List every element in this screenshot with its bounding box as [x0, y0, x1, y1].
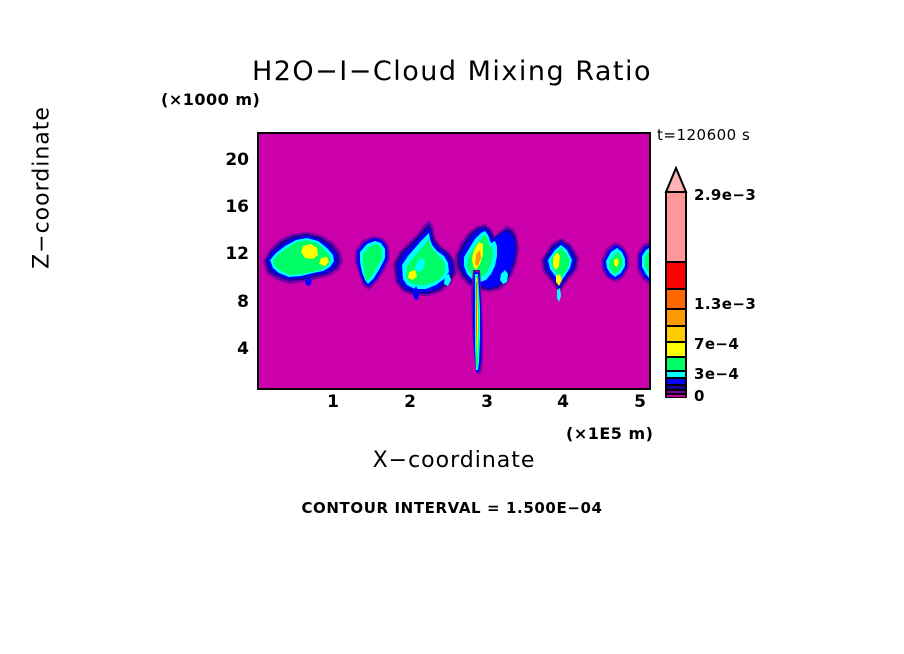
colorbar-arrow-icon	[666, 168, 686, 192]
y-axis-title: Z−coordinate	[30, 88, 55, 288]
colorbar-segment-5	[666, 357, 686, 371]
colorbar-label-1-3e-3: 1.3e−3	[694, 295, 756, 313]
page-title: H2O−I−Cloud Mixing Ratio	[0, 56, 904, 87]
x-tick-3: 3	[467, 392, 507, 412]
y-tick-20: 20	[209, 150, 249, 170]
x-axis-title: X−coordinate	[257, 448, 651, 473]
figure-canvas: H2O−I−Cloud Mixing Ratio (×1000 m) t=120…	[0, 0, 904, 654]
x-tick-1: 1	[313, 392, 353, 412]
y-axis-ticks: 4 8 12 16 20	[203, 132, 249, 390]
contour-plot-area[interactable]	[257, 132, 651, 390]
x-axis-unit-label: (×1E5 m)	[566, 424, 653, 443]
contour-interval-caption: CONTOUR INTERVAL = 1.500E−04	[0, 499, 904, 517]
colorbar-label-3e-4: 3e−4	[694, 365, 739, 383]
y-tick-12: 12	[209, 244, 249, 264]
colorbar-label-max: 2.9e−3	[694, 186, 756, 204]
colorbar-segment-8	[666, 309, 686, 326]
x-axis-ticks: 1 2 3 4 5	[257, 392, 651, 420]
colorbar-segment-6	[666, 342, 686, 357]
z-axis-unit-label: (×1000 m)	[161, 90, 260, 109]
colorbar-labels: 2.9e−3 1.3e−3 7e−4 3e−4 0	[694, 166, 814, 398]
colorbar-segment-11	[666, 192, 686, 262]
y-tick-8: 8	[209, 292, 249, 312]
y-tick-16: 16	[209, 197, 249, 217]
x-tick-4: 4	[543, 392, 583, 412]
colorbar-segment-4	[666, 371, 686, 378]
colorbar-svg	[662, 166, 692, 398]
time-stamp-label: t=120600 s	[657, 126, 750, 144]
colorbar-label-7e-4: 7e−4	[694, 335, 739, 353]
x-tick-2: 2	[390, 392, 430, 412]
colorbar[interactable]	[662, 166, 692, 398]
colorbar-label-zero: 0	[694, 387, 705, 405]
y-tick-4: 4	[209, 339, 249, 359]
colorbar-segment-9	[666, 289, 686, 309]
contour-field	[259, 134, 649, 388]
colorbar-segment-3	[666, 378, 686, 385]
x-tick-5: 5	[620, 392, 660, 412]
colorbar-segment-10	[666, 262, 686, 289]
colorbar-segment-7	[666, 326, 686, 342]
